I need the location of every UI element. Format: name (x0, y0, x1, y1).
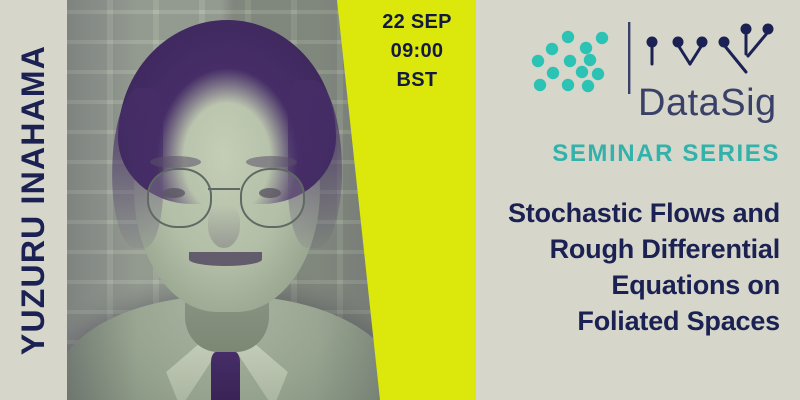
seminar-series-label: SEMINAR SERIES (552, 140, 780, 168)
poster-right-column: DataSig SEMINAR SERIES Stochastic Flows … (480, 0, 800, 400)
portrait-background (67, 0, 387, 400)
speaker-name: YUZURU INAHAMA (0, 0, 67, 400)
speaker-name-strip: YUZURU INAHAMA (0, 0, 67, 400)
ivy-wordmark (640, 16, 780, 78)
speaker-portrait-photo (67, 0, 387, 400)
seminar-announcement-poster: YUZURU INAHAMA 22 SEP 09:00 BST (0, 0, 800, 400)
datasig-dots-logo (532, 31, 608, 92)
event-time: 09:00 (362, 37, 472, 66)
talk-title-line-2: Rough Differential (460, 232, 780, 268)
logo-divider (628, 22, 630, 94)
event-datetime-block: 22 SEP 09:00 BST (362, 8, 472, 95)
portrait-vignette (67, 0, 387, 400)
talk-title: Stochastic Flows and Rough Differential … (460, 196, 780, 340)
talk-title-line-4: Foliated Spaces (460, 304, 780, 340)
event-timezone: BST (362, 66, 472, 95)
talk-title-line-1: Stochastic Flows and (460, 196, 780, 232)
event-date: 22 SEP (362, 8, 472, 37)
datasig-wordmark: DataSig (638, 82, 777, 125)
talk-title-line-3: Equations on (460, 268, 780, 304)
